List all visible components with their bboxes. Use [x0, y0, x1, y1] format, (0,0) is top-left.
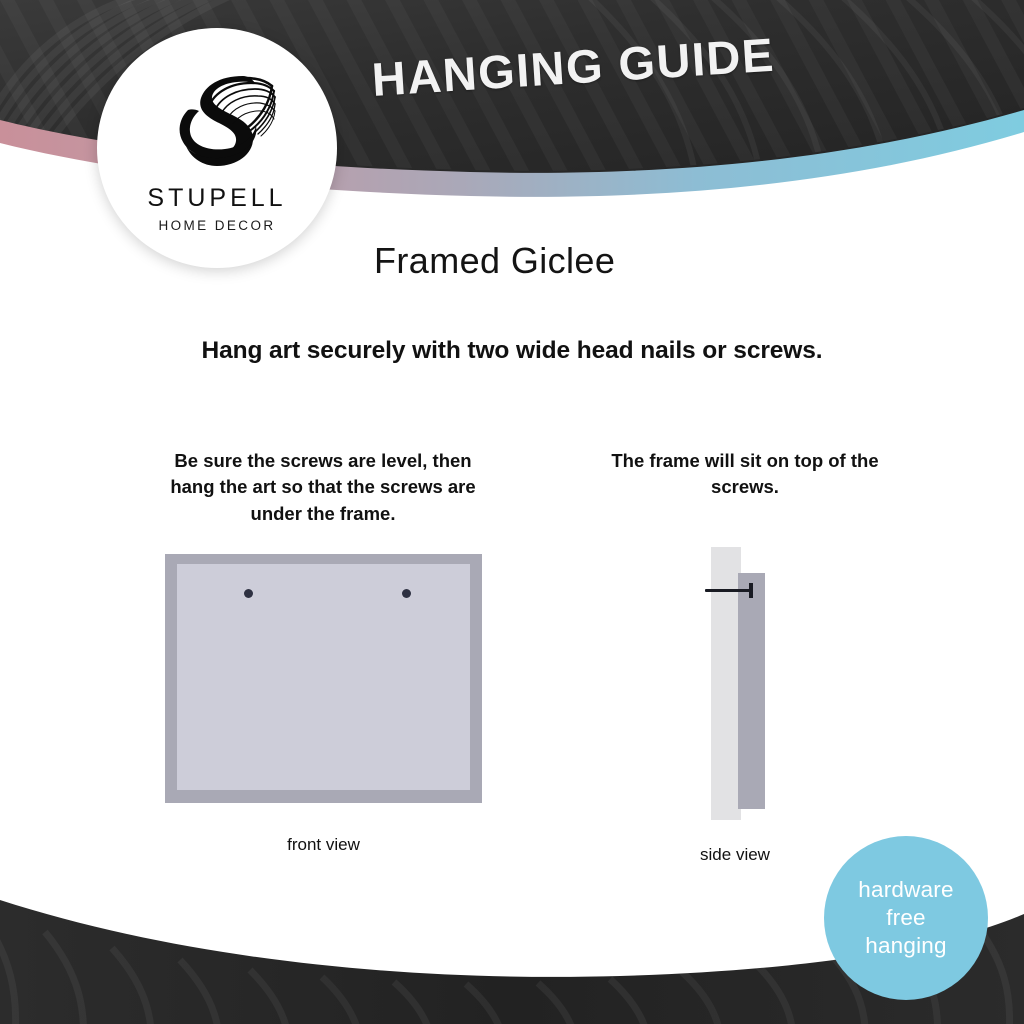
- hardware-free-hanging-badge: hardware free hanging: [824, 836, 988, 1000]
- brand-logo-badge: STUPELL HOME DECOR: [97, 28, 337, 268]
- frame-strip: [738, 573, 765, 809]
- hanging-guide-page: HANGING GUIDE: [0, 0, 1024, 1024]
- badge-line-3: hanging: [865, 932, 946, 960]
- stupell-swoosh-icon: [157, 62, 277, 174]
- side-view-label: side view: [660, 845, 810, 865]
- screw-dot-right: [402, 589, 411, 598]
- side-view-caption: The frame will sit on top of the screws.: [600, 448, 890, 501]
- front-view-frame-interior: [177, 564, 470, 790]
- product-name: Framed Giclee: [374, 240, 615, 282]
- nail-shaft-icon: [705, 589, 753, 592]
- front-view-label: front view: [165, 835, 482, 855]
- side-view-diagram: [680, 540, 820, 830]
- wall-strip: [711, 547, 741, 820]
- screw-dot-left: [244, 589, 253, 598]
- badge-line-1: hardware: [858, 876, 953, 904]
- front-view-caption: Be sure the screws are level, then hang …: [160, 448, 486, 527]
- front-view-diagram: [165, 554, 482, 803]
- badge-line-2: free: [886, 904, 926, 932]
- nail-head-icon: [749, 583, 753, 598]
- logo-wordmark: STUPELL: [147, 186, 286, 211]
- lead-instruction: Hang art securely with two wide head nai…: [0, 337, 1024, 365]
- logo-subtitle: HOME DECOR: [158, 219, 275, 233]
